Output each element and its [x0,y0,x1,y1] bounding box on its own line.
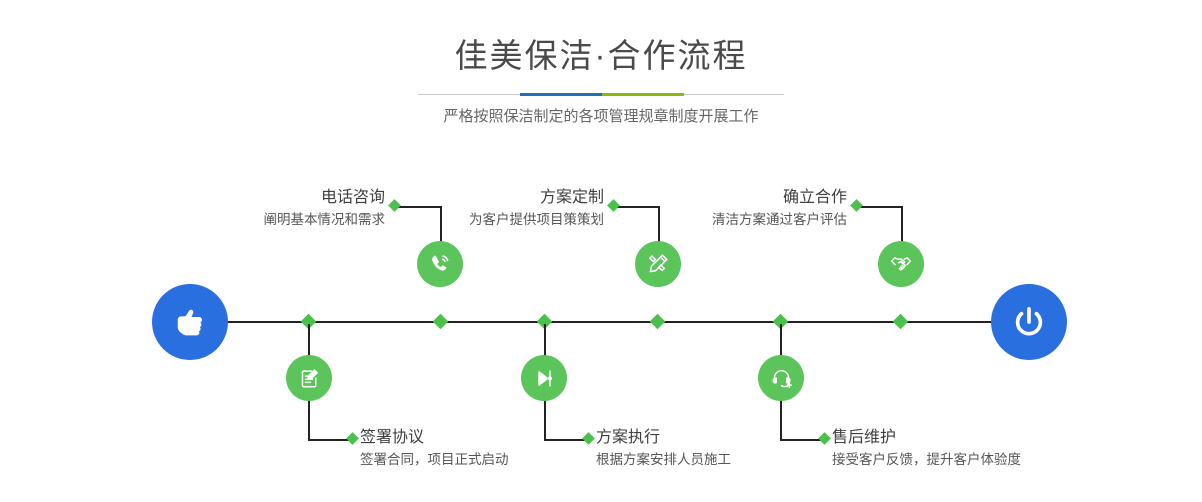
connector-step-6-horizontal [780,439,824,441]
step-node-1[interactable] [417,241,463,287]
step-title-5: 确立合作 [630,188,847,208]
connector-diamond-step-5 [850,199,863,212]
axis-diamond-4 [650,314,666,330]
connector-step-2-horizontal [308,439,352,441]
step-label-5: 确立合作 清洁方案通过客户评估 [630,188,847,230]
step-title-1: 电话咨询 [160,188,385,208]
axis-diamond-6 [893,314,909,330]
divider-segment-blue [520,93,602,96]
step-node-4[interactable] [521,355,567,401]
handshake-icon [888,251,914,277]
divider-segment-green [602,93,684,96]
connector-step-5-horizontal [858,206,902,208]
title-divider [418,93,784,96]
connector-diamond-step-2 [346,432,359,445]
play-execute-icon [532,366,557,391]
document-edit-icon [297,366,322,391]
power-icon [1008,301,1050,343]
connector-step-4-horizontal [544,439,588,441]
step-title-4: 方案执行 [596,428,846,448]
step-desc-6: 接受客户反馈，提升客户体验度 [832,450,1092,470]
pointing-hand-icon [169,301,211,343]
step-node-2[interactable] [286,355,332,401]
step-title-3: 方案定制 [380,188,604,208]
page-subtitle: 严格按照保洁制定的各项管理规章制度开展工作 [0,106,1202,128]
step-desc-3: 为客户提供项目策策划 [380,210,604,230]
pencil-ruler-icon [645,251,671,277]
axis-diamond-2 [433,314,449,330]
page-title: 佳美保洁·合作流程 [0,34,1202,78]
connector-diamond-step-3 [607,199,620,212]
timeline-end-node[interactable] [991,284,1067,360]
header: 佳美保洁·合作流程 [0,34,1202,78]
step-desc-4: 根据方案安排人员施工 [596,450,846,470]
step-node-5[interactable] [878,241,924,287]
step-desc-5: 清洁方案通过客户评估 [630,210,847,230]
step-title-2: 签署协议 [360,428,610,448]
step-node-3[interactable] [635,241,681,287]
timeline-start-node[interactable] [152,284,228,360]
step-node-6[interactable] [758,355,804,401]
step-title-6: 售后维护 [832,428,1092,448]
step-label-2: 签署协议 签署合同，项目正式启动 [360,428,610,470]
step-label-3: 方案定制 为客户提供项目策策划 [380,188,604,230]
headset-support-icon [769,366,794,391]
infographic-canvas: 佳美保洁·合作流程 严格按照保洁制定的各项管理规章制度开展工作 [0,0,1202,502]
step-desc-2: 签署合同，项目正式启动 [360,450,610,470]
step-label-1: 电话咨询 阐明基本情况和需求 [160,188,385,230]
step-label-6: 售后维护 接受客户反馈，提升客户体验度 [832,428,1092,470]
step-desc-1: 阐明基本情况和需求 [160,210,385,230]
phone-call-icon [427,251,453,277]
step-label-4: 方案执行 根据方案安排人员施工 [596,428,846,470]
